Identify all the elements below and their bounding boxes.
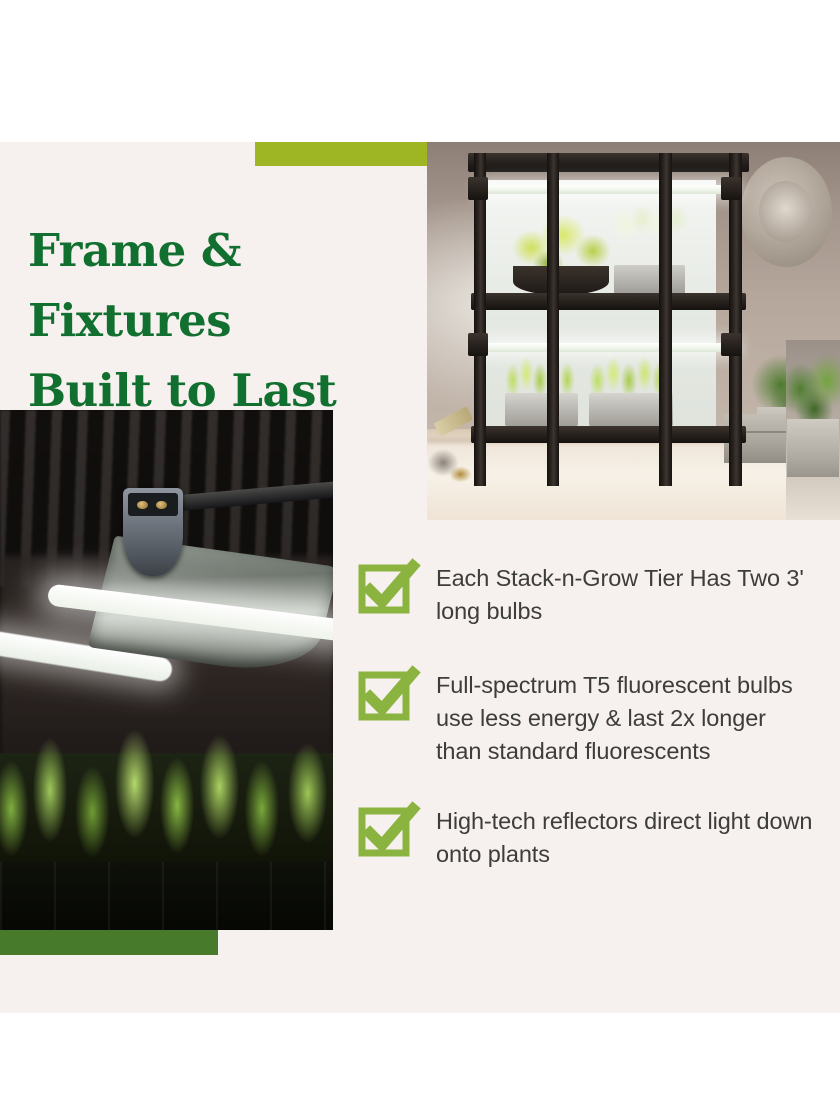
planting-bowl [513,266,608,294]
seedling-sprouts [0,712,333,868]
socket-pin-left [137,501,148,509]
middle-shelf [471,293,746,310]
fluorescent-tube-upper [482,185,735,194]
feature-list: Each Stack-n-Grow Tier Has Two 3' long b… [356,560,816,871]
unit-post-2 [547,153,559,486]
socket-pin-right [156,501,167,509]
grow-light-shelf-photo [427,142,840,520]
top-accent-bar [255,142,440,166]
potted-shrub-strip-photo [786,340,840,520]
unit-post-4 [729,153,741,486]
check-square-icon [356,803,416,861]
list-item: Each Stack-n-Grow Tier Has Two 3' long b… [356,560,816,627]
light-clamp-3 [468,333,488,356]
lamp-socket [123,488,183,576]
headline-line-1: Frame & Fixtures [28,224,241,347]
list-item-label: High-tech reflectors direct light down o… [436,803,816,870]
unit-post-3 [659,153,671,486]
strip-stone-pot [787,419,839,477]
check-square-icon [356,667,416,725]
shelving-unit [468,153,749,486]
wall-art-decor [741,157,832,267]
seedling-flats [0,862,333,930]
light-clamp-1 [468,177,488,200]
light-clamp-4 [721,333,741,356]
page-title: Frame & Fixtures Built to Last [28,216,428,425]
unit-top-panel [468,153,749,171]
list-item: High-tech reflectors direct light down o… [356,803,816,870]
list-item: Full-spectrum T5 fluorescent bulbs use l… [356,667,816,767]
reflector-fixture-photo [0,410,333,930]
headline-line-2: Built to Last [28,356,428,426]
bottom-shelf [471,426,746,443]
list-item-label: Full-spectrum T5 fluorescent bulbs use l… [436,667,816,767]
seedling-tray-a [505,393,578,426]
check-square-icon [356,560,416,618]
list-item-label: Each Stack-n-Grow Tier Has Two 3' long b… [436,560,816,627]
lettuce-foliage [508,210,615,273]
fluorescent-tube-lower [482,343,735,352]
bottom-accent-bar [0,930,218,955]
light-clamp-2 [721,177,741,200]
socket-face [128,493,178,516]
metal-pot-left [614,265,651,297]
promo-graphic: Frame & Fixtures Built to Last Each Stac… [0,0,840,1120]
